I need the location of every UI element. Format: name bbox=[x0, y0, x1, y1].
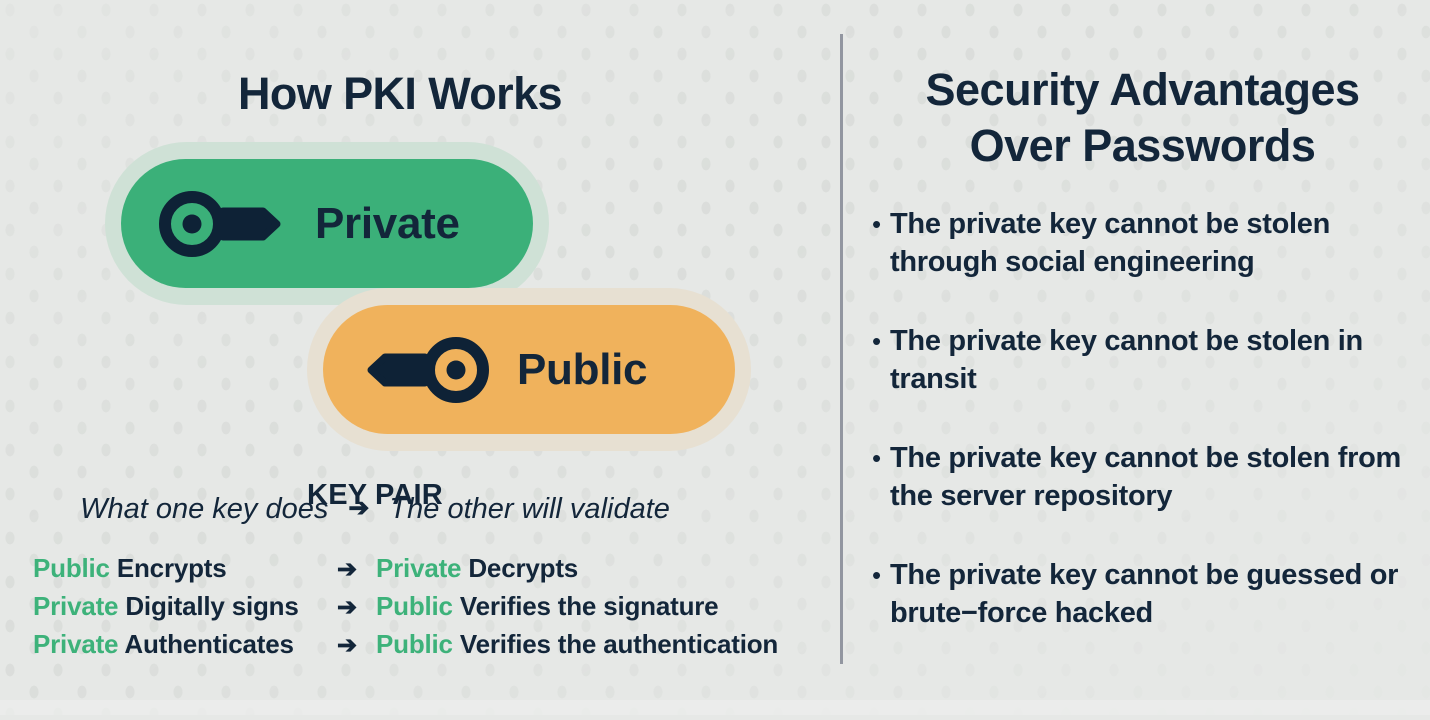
list-item: • The private key cannot be stolen in tr… bbox=[872, 322, 1420, 398]
right-title-line-2: Over Passwords bbox=[970, 120, 1316, 171]
mapping-row-target: Public Verifies the signature bbox=[376, 591, 833, 622]
column-divider bbox=[840, 34, 843, 664]
advantage-text: The private key cannot be stolen from th… bbox=[890, 439, 1420, 515]
security-advantages-list: • The private key cannot be stolen throu… bbox=[872, 205, 1420, 673]
right-title-line-1: Security Advantages bbox=[926, 64, 1360, 115]
bullet-icon: • bbox=[872, 556, 890, 594]
mapping-target-key: Public bbox=[376, 629, 453, 659]
key-pair-subtitle-right: The other will validate bbox=[389, 493, 669, 525]
public-key-pill[interactable]: Public bbox=[323, 305, 735, 434]
bullet-icon: • bbox=[872, 439, 890, 477]
list-item: • The private key cannot be guessed or b… bbox=[872, 556, 1420, 632]
arrow-icon-mapping: ➔ bbox=[318, 555, 376, 584]
mapping-target-key: Private bbox=[376, 553, 461, 583]
key-icon-public bbox=[361, 337, 489, 403]
arrow-icon-mapping: ➔ bbox=[318, 631, 376, 660]
arrow-icon-mapping: ➔ bbox=[318, 593, 376, 622]
page-title-security-advantages: Security Advantages Over Passwords bbox=[855, 62, 1430, 174]
mapping-target-key: Public bbox=[376, 591, 453, 621]
page-title-how-pki-works: How PKI Works bbox=[0, 71, 800, 116]
mapping-row-source: Private Digitally signs bbox=[33, 591, 318, 622]
mapping-target-action: Verifies the authentication bbox=[460, 629, 778, 659]
key-operation-mapping-list: Public Encrypts ➔ Private Decrypts Priva… bbox=[33, 553, 833, 667]
key-pair-subtitle-left: What one key does bbox=[80, 493, 328, 525]
advantage-text: The private key cannot be guessed or bru… bbox=[890, 556, 1420, 632]
infographic-page: How PKI Works Private bbox=[0, 0, 1430, 715]
key-pair-subtitle: What one key does ➔ The other will valid… bbox=[0, 493, 750, 526]
right-column-security-advantages: Security Advantages Over Passwords • The… bbox=[855, 0, 1430, 715]
mapping-row: Private Authenticates ➔ Public Verifies … bbox=[33, 629, 833, 667]
advantage-text: The private key cannot be stolen through… bbox=[890, 205, 1420, 281]
mapping-source-key: Private bbox=[33, 629, 118, 659]
mapping-source-action: Authenticates bbox=[124, 629, 293, 659]
advantage-text: The private key cannot be stolen in tran… bbox=[890, 322, 1420, 398]
private-key-pill-halo: Private bbox=[105, 142, 549, 305]
mapping-source-action: Encrypts bbox=[117, 553, 227, 583]
mapping-row: Private Digitally signs ➔ Public Verifie… bbox=[33, 591, 833, 629]
mapping-row-target: Private Decrypts bbox=[376, 553, 833, 584]
bullet-icon: • bbox=[872, 205, 890, 243]
mapping-source-key: Public bbox=[33, 553, 110, 583]
private-key-pill[interactable]: Private bbox=[121, 159, 533, 288]
mapping-source-action: Digitally signs bbox=[125, 591, 298, 621]
mapping-target-action: Verifies the signature bbox=[460, 591, 719, 621]
mapping-row-source: Private Authenticates bbox=[33, 629, 318, 660]
arrow-icon-key-pair: ➔ bbox=[348, 494, 369, 522]
list-item: • The private key cannot be stolen throu… bbox=[872, 205, 1420, 281]
mapping-row: Public Encrypts ➔ Private Decrypts bbox=[33, 553, 833, 591]
mapping-row-target: Public Verifies the authentication bbox=[376, 629, 833, 660]
bullet-icon: • bbox=[872, 322, 890, 360]
public-key-pill-halo: Public bbox=[307, 288, 751, 451]
private-key-label: Private bbox=[315, 202, 460, 246]
mapping-target-action: Decrypts bbox=[468, 553, 578, 583]
public-key-label: Public bbox=[517, 348, 647, 392]
key-icon-private bbox=[159, 191, 287, 257]
left-column-how-pki-works: How PKI Works Private bbox=[0, 0, 840, 715]
mapping-row-source: Public Encrypts bbox=[33, 553, 318, 584]
list-item: • The private key cannot be stolen from … bbox=[872, 439, 1420, 515]
mapping-source-key: Private bbox=[33, 591, 118, 621]
